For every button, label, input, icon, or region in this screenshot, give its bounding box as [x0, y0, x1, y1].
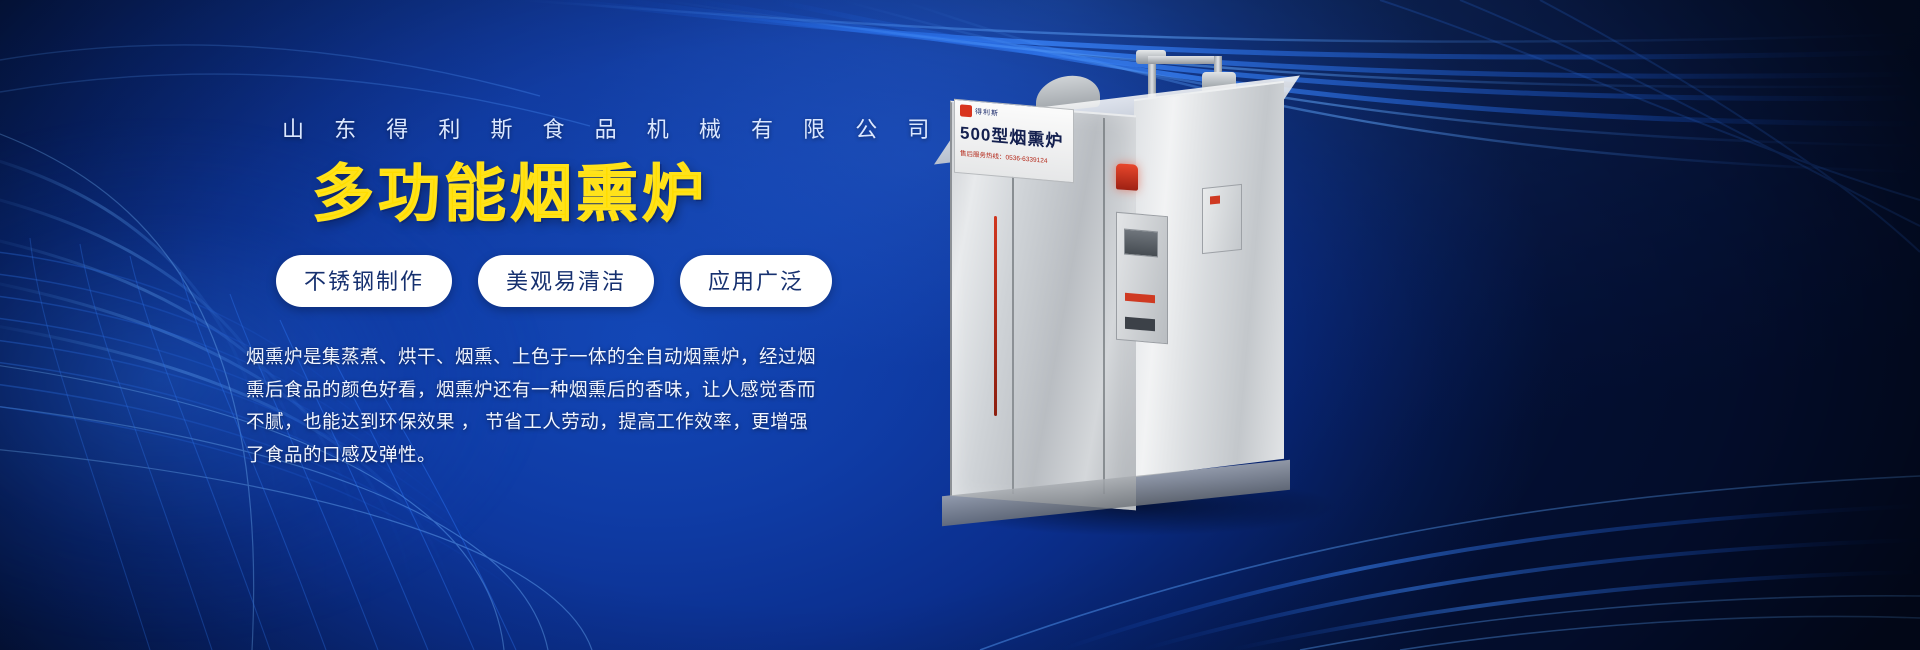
company-name: 山 东 得 利 斯 食 品 机 械 有 限 公 司	[282, 112, 980, 144]
banner-content: 山 东 得 利 斯 食 品 机 械 有 限 公 司 多功能烟熏炉 不锈钢制作 美…	[0, 0, 980, 650]
oven-door-seam-right	[1103, 118, 1105, 494]
oven-control-display	[1124, 229, 1158, 258]
brand-logo-icon	[960, 104, 972, 117]
oven-nameplate: 得利斯 500型烟熏炉 售后服务热线：0536-6339124	[954, 99, 1074, 183]
feature-badge-easy-clean[interactable]: 美观易清洁	[478, 255, 654, 307]
nameplate-brand: 得利斯	[975, 107, 999, 119]
page-title: 多功能烟熏炉	[312, 160, 980, 229]
feature-badge-stainless[interactable]: 不锈钢制作	[276, 255, 452, 307]
product-image-smokehouse-oven: 得利斯 500型烟熏炉 售后服务热线：0536-6339124	[920, 46, 1340, 516]
promo-banner: 山 东 得 利 斯 食 品 机 械 有 限 公 司 多功能烟熏炉 不锈钢制作 美…	[0, 0, 1920, 650]
feature-badge-wide-use[interactable]: 应用广泛	[680, 255, 832, 307]
oven-side-indicator-icon	[1210, 195, 1220, 204]
feature-badge-list: 不锈钢制作 美观易清洁 应用广泛	[276, 255, 980, 307]
oven-door-handle-rod	[994, 216, 997, 416]
oven-alarm-lamp-icon	[1116, 163, 1138, 191]
product-description: 烟熏炉是集蒸煮、烘干、烟熏、上色于一体的全自动烟熏炉，经过烟熏后食品的颜色好看，…	[246, 341, 816, 471]
oven-pipe-horizontal	[1148, 56, 1222, 64]
oven-side-control-box	[1202, 184, 1242, 254]
oven-control-dark-button	[1125, 317, 1155, 332]
